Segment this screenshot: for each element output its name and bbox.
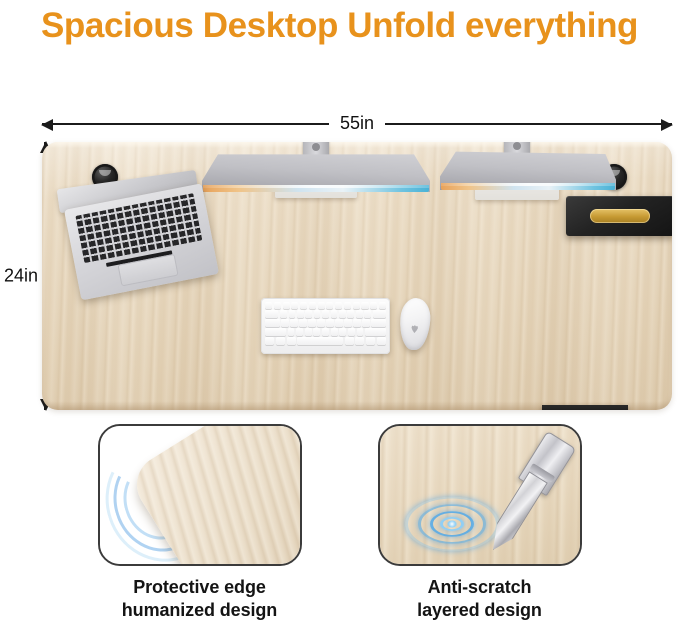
keyboard-key <box>274 302 281 309</box>
feature-protective-edge: Protective edge humanized design <box>100 424 300 626</box>
keyboard-key <box>287 337 296 344</box>
keyboard-key <box>353 302 360 309</box>
rounded-corner-illustration <box>100 426 300 564</box>
keyboard-key <box>347 310 354 317</box>
height-control-panel[interactable] <box>542 405 628 410</box>
keyboard-key <box>331 328 338 335</box>
keyboard-key <box>322 310 329 317</box>
depth-dimension-label: 24in <box>2 263 40 290</box>
width-arrow-left <box>42 123 329 125</box>
monitor-left-back-panel <box>202 152 430 192</box>
keyboard-key <box>370 302 377 309</box>
keyboard-row <box>265 328 386 335</box>
monitor-right-screen-edge <box>441 183 615 190</box>
keyboard-key <box>281 319 288 326</box>
ripple-center-glow <box>447 521 457 528</box>
product-feature-graphic: Spacious Desktop Unfold everything 55in … <box>0 0 679 626</box>
keyboard-key <box>283 302 290 309</box>
keyboard-key <box>300 302 307 309</box>
caption-line-1: Anti-scratch <box>417 576 542 599</box>
keyboard-spacebar <box>297 337 343 344</box>
feature-anti-scratch-caption: Anti-scratch layered design <box>417 576 542 621</box>
width-arrow-right <box>385 123 672 125</box>
keyboard-key <box>291 302 298 309</box>
feature-protective-edge-image <box>98 424 302 566</box>
keyboard-key <box>265 302 272 309</box>
keyboard-key <box>289 310 296 317</box>
laptop <box>50 160 230 308</box>
keyboard-key <box>339 310 346 317</box>
keyboard-key <box>362 319 369 326</box>
keyboard-row <box>265 310 386 317</box>
keyboard-key <box>364 310 371 317</box>
keyboard-key <box>355 337 364 344</box>
keyboard-key <box>366 337 375 344</box>
keyboard-row <box>265 302 386 309</box>
wireless-keyboard <box>261 298 390 354</box>
keyboard-key <box>297 310 304 317</box>
feature-callouts: Protective edge humanized design <box>0 424 679 626</box>
keyboard-key <box>326 302 333 309</box>
keyboard-row <box>265 319 386 326</box>
width-dimension-annotation: 55in <box>42 113 672 135</box>
keyboard-key <box>299 319 306 326</box>
utility-knife-icon <box>478 431 576 559</box>
keyboard-key <box>322 328 329 335</box>
keyboard-key <box>344 319 351 326</box>
keyboard-key <box>345 337 354 344</box>
keyboard-key <box>335 319 342 326</box>
width-dimension-label: 55in <box>329 114 385 132</box>
keyboard-row <box>265 337 386 344</box>
monitor-left-screen-edge <box>203 185 429 192</box>
keyboard-key <box>335 302 342 309</box>
keyboard-key <box>265 337 274 344</box>
keyboard-key <box>339 328 346 335</box>
caption-line-2: humanized design <box>122 599 277 622</box>
laptop-keys <box>75 193 202 263</box>
keyboard-key <box>361 302 368 309</box>
keyboard-key <box>348 328 355 335</box>
keyboard-key <box>317 319 324 326</box>
feature-anti-scratch: Anti-scratch layered design <box>380 424 580 626</box>
caption-line-1: Protective edge <box>122 576 277 599</box>
keyboard-key <box>309 302 316 309</box>
keyboard-key <box>379 302 386 309</box>
bluetooth-speaker <box>566 196 672 236</box>
keyboard-key <box>280 310 287 317</box>
keyboard-key <box>353 319 360 326</box>
keyboard-key <box>373 310 386 317</box>
keyboard-key <box>344 302 351 309</box>
keyboard-key <box>265 310 278 317</box>
page-title: Spacious Desktop Unfold everything <box>0 0 679 52</box>
keyboard-key <box>357 328 364 335</box>
speaker-logo-plate <box>590 209 650 223</box>
keyboard-key <box>318 302 325 309</box>
caption-line-2: layered design <box>417 599 542 622</box>
keyboard-key <box>377 337 386 344</box>
keyboard-key <box>314 310 321 317</box>
monitor-left <box>202 142 430 194</box>
wireless-mouse <box>398 297 432 351</box>
keyboard-key <box>288 328 295 335</box>
keyboard-key <box>356 310 363 317</box>
keyboard-key <box>296 328 303 335</box>
keyboard-key <box>265 328 286 335</box>
keyboard-key <box>305 310 312 317</box>
desktop-surface <box>42 142 672 410</box>
monitor-right <box>440 142 616 194</box>
knife-on-surface-illustration <box>380 426 580 564</box>
feature-anti-scratch-image <box>378 424 582 566</box>
keyboard-key <box>331 310 338 317</box>
keyboard-key <box>365 328 386 335</box>
keyboard-key <box>265 319 280 326</box>
keyboard-key <box>305 328 312 335</box>
monitor-right-back-panel <box>440 150 616 190</box>
keyboard-key <box>276 337 285 344</box>
feature-protective-edge-caption: Protective edge humanized design <box>122 576 277 621</box>
keyboard-key <box>308 319 315 326</box>
keyboard-key <box>290 319 297 326</box>
keyboard-key <box>371 319 386 326</box>
keyboard-key <box>313 328 320 335</box>
keyboard-key <box>326 319 333 326</box>
